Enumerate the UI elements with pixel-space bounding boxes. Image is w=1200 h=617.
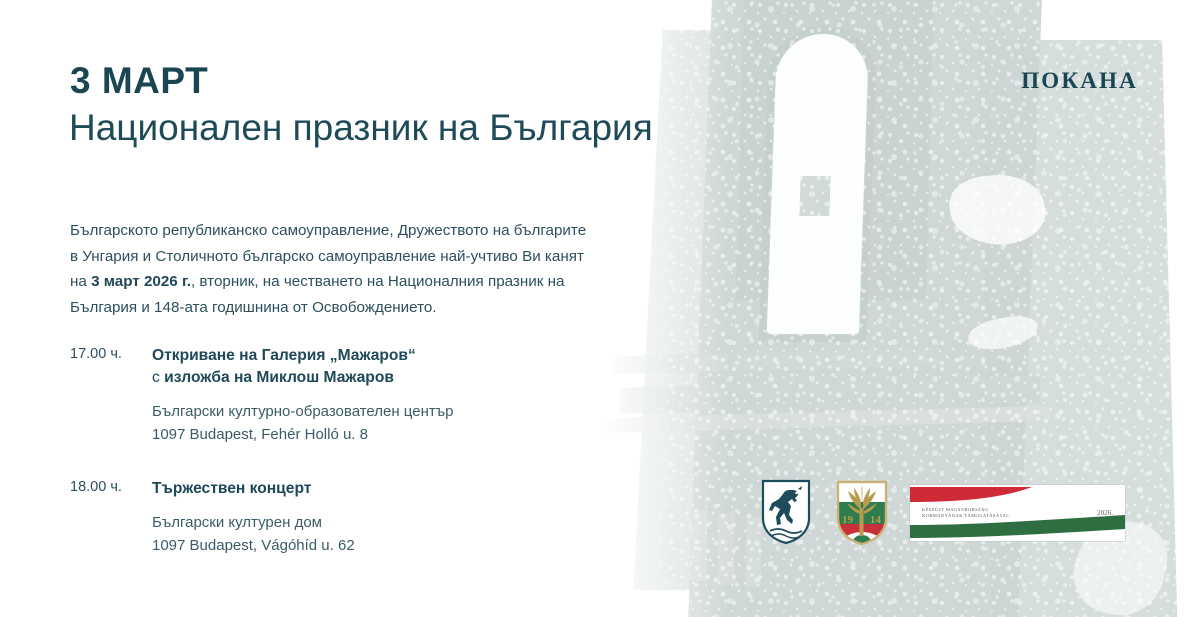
hungarian-support-line2: Kormányának támogatásával <box>922 513 1009 519</box>
schedule-item-details: Откриване на Галерия „Мажаров“ с изложба… <box>152 345 590 446</box>
schedule-item-title-line1: Тържествен концерт <box>152 478 590 500</box>
tower-arch-sill <box>799 176 830 216</box>
schedule-item-title: Откриване на Галерия „Мажаров“ с изложба… <box>152 345 590 389</box>
invitation-body-text: Българското републиканско самоуправление… <box>70 218 590 320</box>
schedule-item-title-line2: с изложба на Миклош Мажаров <box>152 367 590 389</box>
tower-plinth-lower <box>600 406 1050 434</box>
svg-text:19: 19 <box>842 514 854 526</box>
schedule-item: 17.00 ч. Откриване на Галерия „Мажаров“ … <box>70 345 590 446</box>
hungarian-support-text: Készült Magyarország Kormányának támogat… <box>922 507 1009 520</box>
tower-cornice <box>612 348 942 374</box>
schedule-item-venue: Български културно-образователен център … <box>152 401 590 446</box>
schedule-list: 17.00 ч. Откриване на Галерия „Мажаров“ … <box>70 345 590 581</box>
schedule-item-title-line1: Откриване на Галерия „Мажаров“ <box>152 345 590 367</box>
schedule-item-venue-name: Български културно-образователен център <box>152 401 590 424</box>
tower-column-1 <box>662 505 679 578</box>
schedule-item-time: 18.00 ч. <box>70 479 148 495</box>
tower-column-4 <box>746 517 761 588</box>
tree-shield-icon: 19 14 <box>834 478 890 546</box>
tower-arch-window <box>767 34 869 334</box>
schedule-item-venue-name: Български културен дом <box>152 512 590 535</box>
schedule-item-venue-address: 1097 Budapest, Vágóhíd u. 62 <box>152 535 590 558</box>
hungarian-support-banner: Készült Magyarország Kormányának támogat… <box>910 485 1125 541</box>
schedule-item-venue: Български културен дом 1097 Budapest, Vá… <box>152 512 590 557</box>
invitation-kicker: ПОКАНА <box>1021 68 1138 94</box>
schedule-item-details: Тържествен концерт Български културен до… <box>152 478 590 557</box>
hungarian-support-year: 2026. <box>1097 509 1113 517</box>
schedule-item-title: Тържествен концерт <box>152 478 590 500</box>
schedule-item-title-prefix: с <box>152 369 164 386</box>
svg-text:14: 14 <box>870 514 882 526</box>
schedule-item-time: 17.00 ч. <box>70 346 148 362</box>
emblem-group: 19 14 <box>760 478 890 546</box>
tower-plinth-upper <box>620 376 1040 414</box>
page-title-subtitle: Национален празник на България <box>69 108 653 149</box>
tower-relief-highlight-2 <box>966 313 1040 354</box>
tower-upper-shape <box>736 0 935 300</box>
schedule-item-title-second: изложба на Миклош Мажаров <box>164 369 394 386</box>
invitation-page: ПОКАНА 3 МАРТ Национален празник на Бълг… <box>0 0 1200 617</box>
tower-column-2 <box>690 509 707 582</box>
schedule-item-venue-address: 1097 Budapest, Fehér Holló u. 8 <box>152 424 590 447</box>
lion-shield-icon <box>760 478 812 546</box>
tower-column-3 <box>718 513 735 586</box>
tower-arch-frame <box>758 26 877 342</box>
tower-relief-highlight-1 <box>947 170 1049 250</box>
body-text-highlight-date: 3 март 2026 г. <box>91 273 191 290</box>
page-title-date: 3 МАРТ <box>70 62 208 99</box>
schedule-item: 18.00 ч. Тържествен концерт Български ку… <box>70 478 590 557</box>
